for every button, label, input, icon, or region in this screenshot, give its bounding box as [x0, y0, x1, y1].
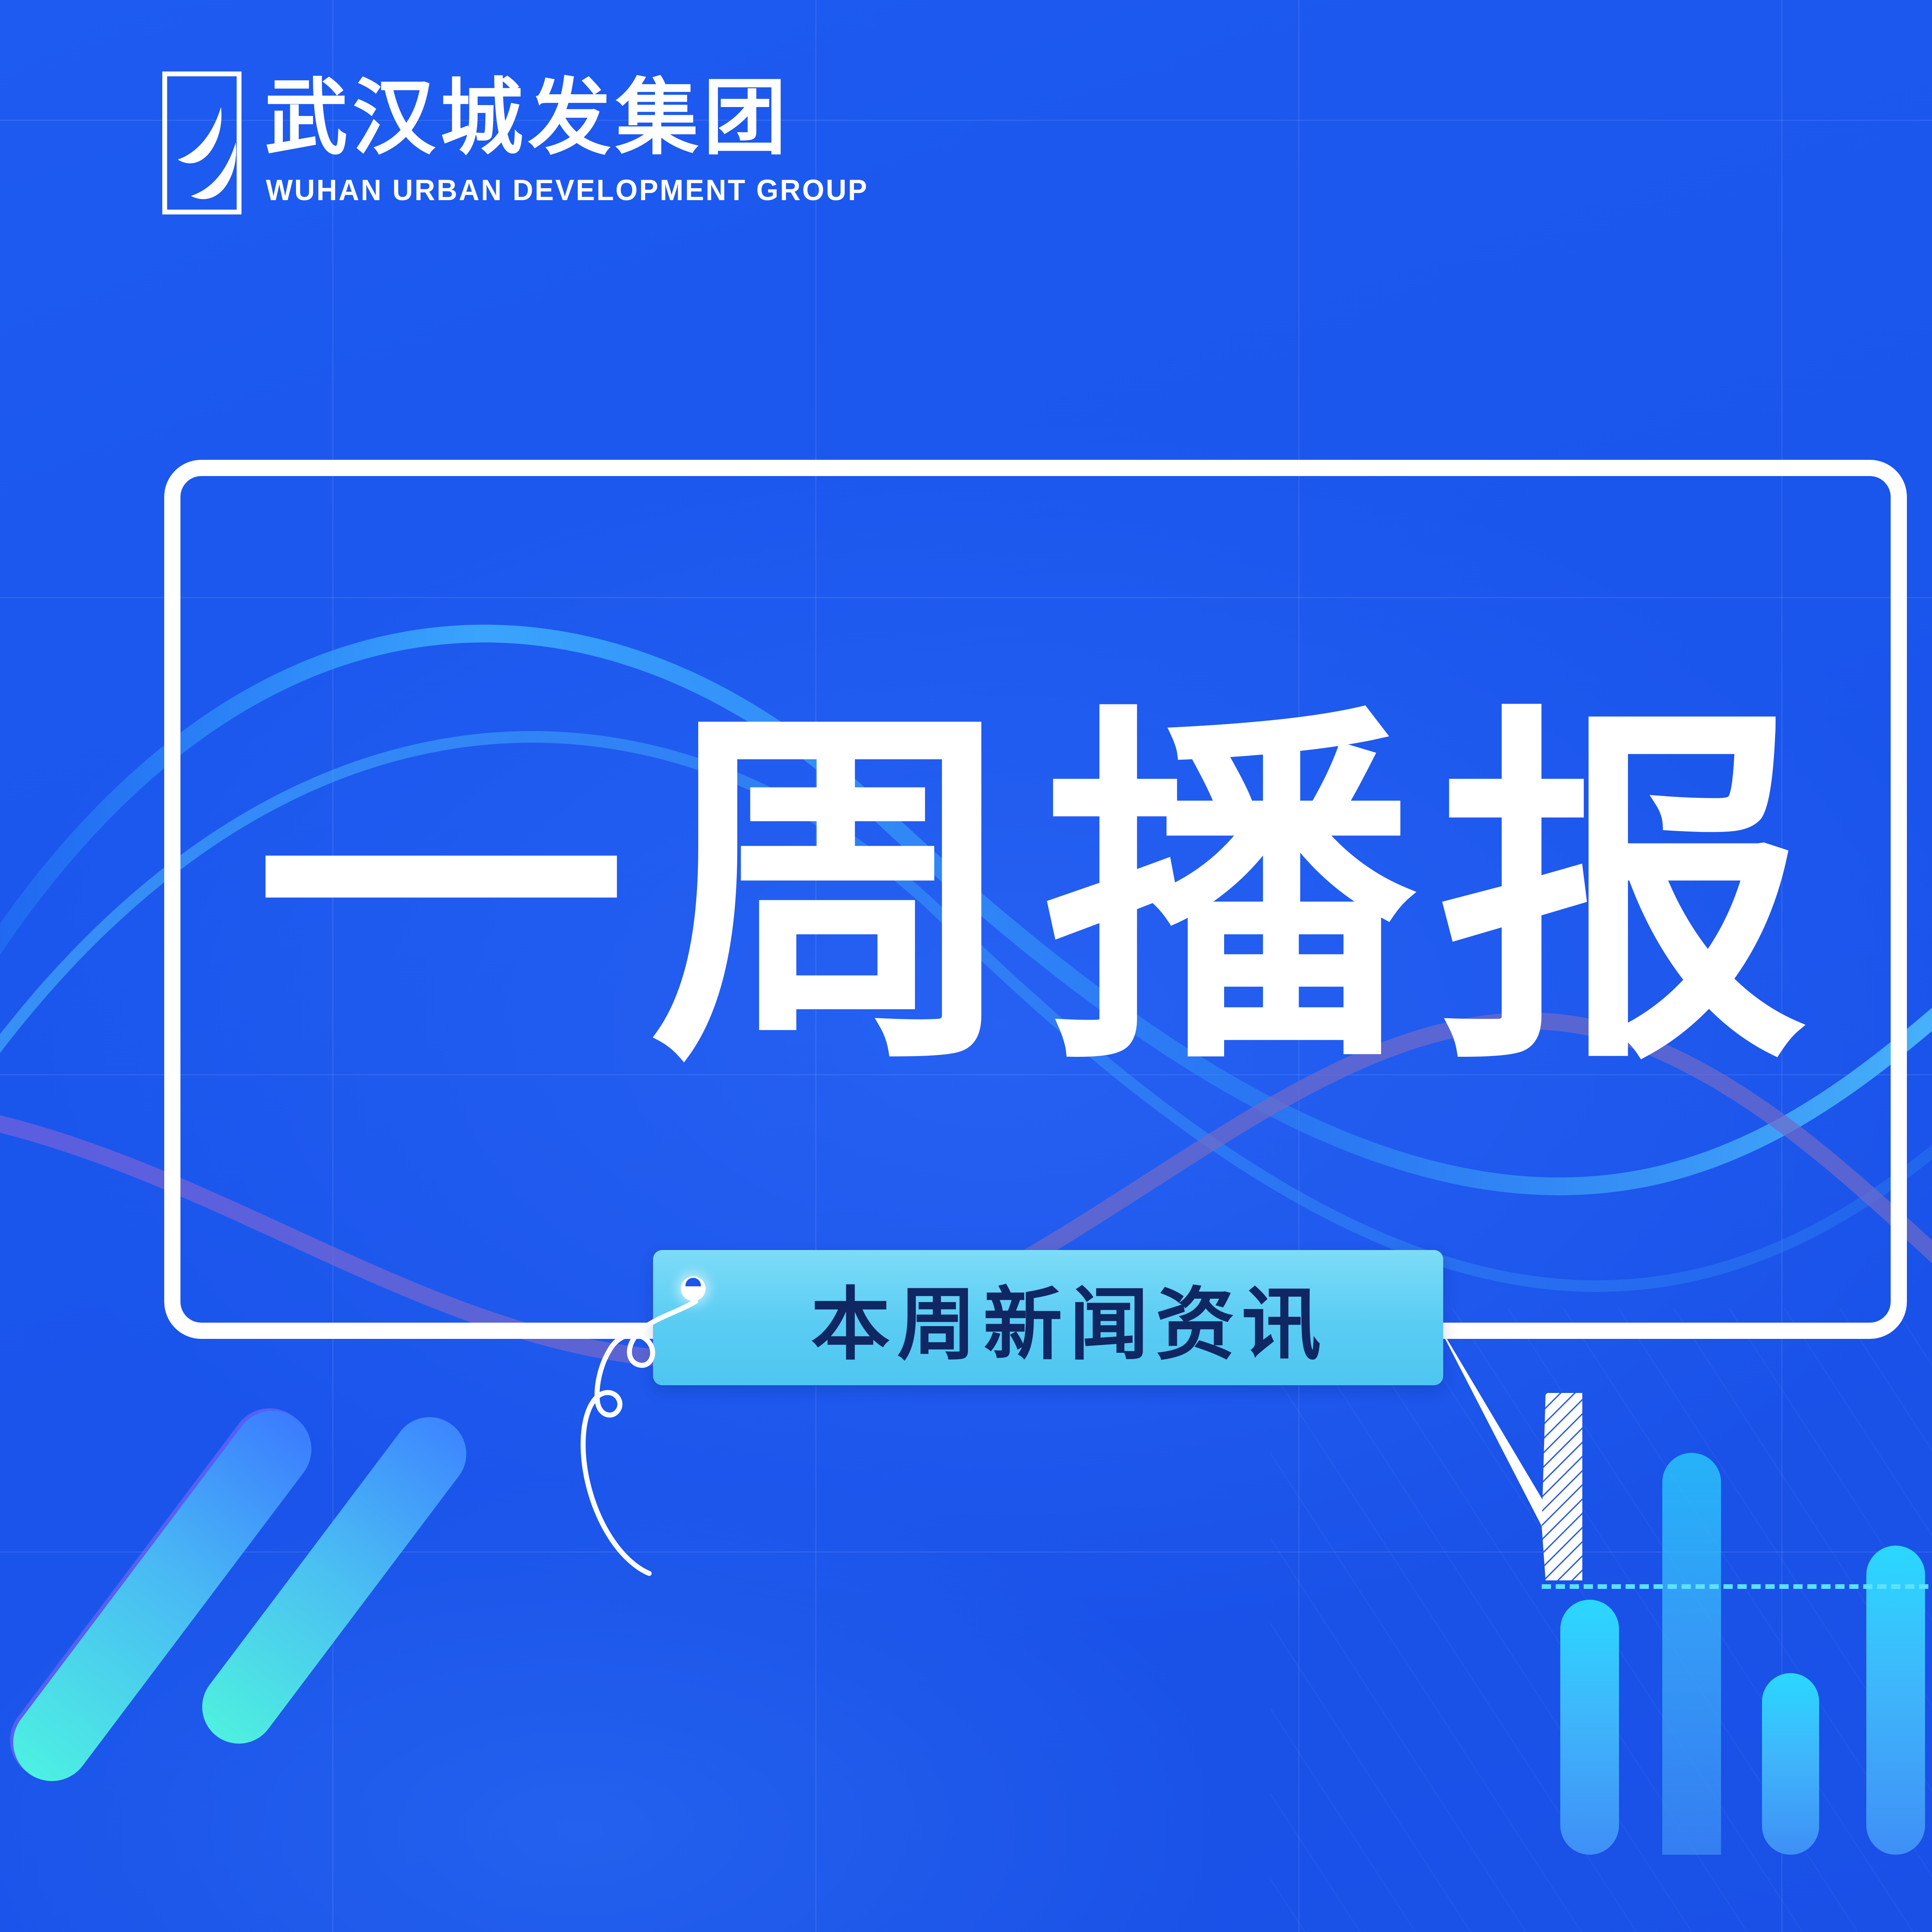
chart-bar: [1662, 1453, 1721, 1855]
logo-chinese-name: 武汉城发集团: [265, 73, 791, 162]
logo-english-name: WUHAN URBAN DEVELOPMENT GROUP: [266, 175, 869, 206]
chart-bar: [1762, 1673, 1819, 1855]
brand-logo: 武汉城发集团 WUHAN URBAN DEVELOPMENT GROUP: [162, 71, 904, 226]
tag-string-squiggle: [514, 1271, 784, 1619]
page-title: 一周播报: [255, 692, 1820, 1101]
logo-mark-icon: [162, 71, 241, 214]
chart-threshold-line: [1542, 1584, 1932, 1589]
decor-bar-chart: [1553, 1430, 1932, 1855]
chart-bar: [1866, 1546, 1925, 1855]
chart-bar: [1560, 1600, 1619, 1855]
poster-canvas: 武汉城发集团 WUHAN URBAN DEVELOPMENT GROUP 一周播…: [0, 0, 1932, 1932]
